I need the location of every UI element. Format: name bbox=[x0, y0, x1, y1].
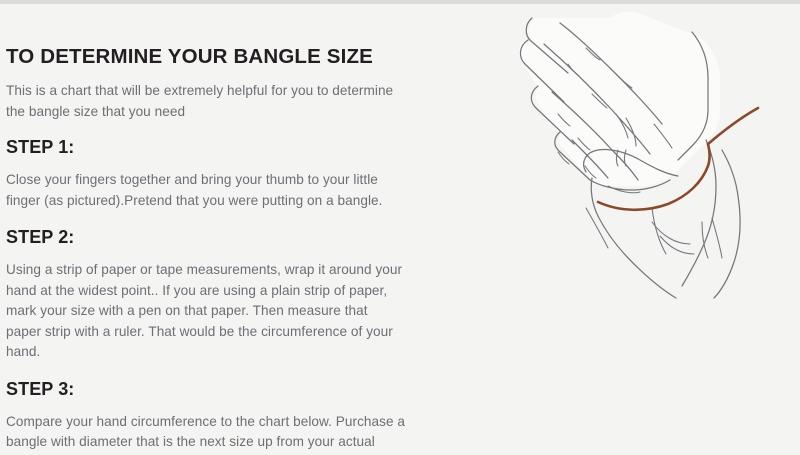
step-2-heading: STEP 2: bbox=[6, 226, 406, 248]
wrist-edge-outer bbox=[714, 150, 740, 298]
step-2-body: Using a strip of paper or tape measureme… bbox=[6, 260, 406, 363]
text-column: TO DETERMINE YOUR BANGLE SIZE This is a … bbox=[6, 44, 406, 455]
text-content-panel: TO DETERMINE YOUR BANGLE SIZE This is a … bbox=[0, 0, 440, 455]
wrist-crease-2 bbox=[702, 222, 708, 258]
step-1-body: Close your fingers together and bring yo… bbox=[6, 170, 406, 211]
step-1-heading: STEP 1: bbox=[6, 136, 406, 158]
page-title: TO DETERMINE YOUR BANGLE SIZE bbox=[6, 44, 406, 69]
hand-outer-edge bbox=[591, 178, 676, 298]
step-3-body: Compare your hand circumference to the c… bbox=[6, 412, 406, 455]
little-knuckle-crease bbox=[558, 152, 569, 164]
hand-illustration-svg bbox=[440, 0, 800, 455]
wrist-edge-inner bbox=[682, 140, 716, 286]
step-3-heading: STEP 3: bbox=[6, 378, 406, 400]
hand-illustration bbox=[440, 0, 800, 455]
palm-base-crease-3 bbox=[652, 208, 666, 254]
wrist-crease-1 bbox=[712, 218, 722, 258]
palm-base-crease-1 bbox=[652, 222, 690, 244]
hand-silhouette-fill bbox=[519, 12, 720, 186]
bangle-size-guide-page: TO DETERMINE YOUR BANGLE SIZE This is a … bbox=[0, 0, 800, 455]
intro-paragraph: This is a chart that will be extremely h… bbox=[6, 81, 406, 122]
